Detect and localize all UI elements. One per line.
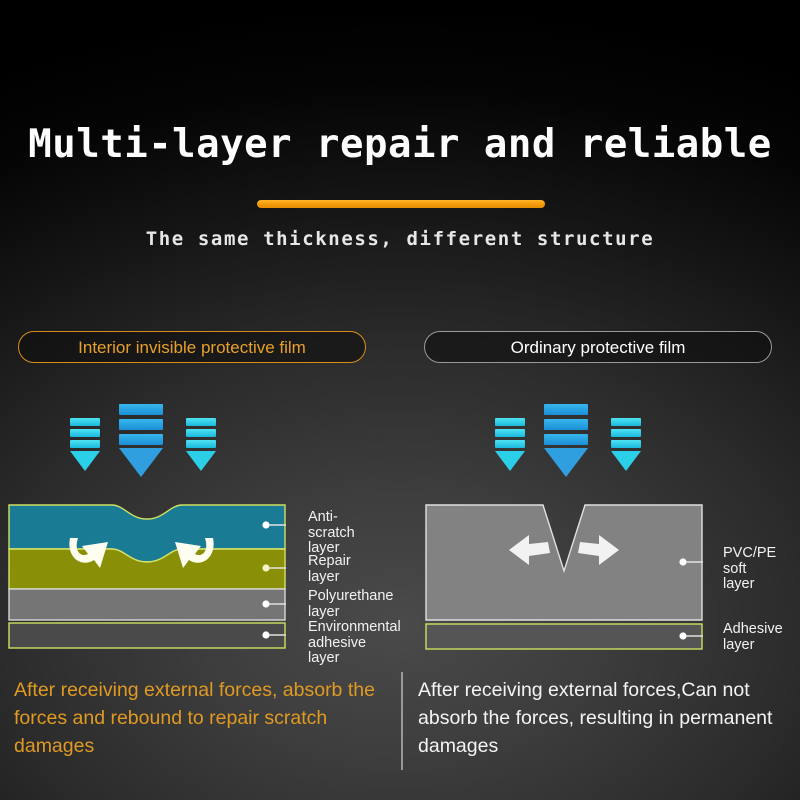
layer-label-anti-scratch: Anti-scratch layer (308, 510, 355, 557)
layer-label-adhesive: Adhesive layer (723, 622, 783, 653)
title-underline-rule (257, 200, 545, 208)
layer-marker-dot (679, 558, 686, 565)
layer-pvc-pe-soft (426, 505, 702, 620)
layer-marker-dot (262, 521, 269, 528)
layer-marker-dot (262, 631, 269, 638)
layer-environmental-adhesive (9, 623, 285, 648)
layer-stack-svg (425, 492, 703, 662)
panel-heading-interior-film: Interior invisible protective film (18, 331, 366, 363)
layer-stack-svg (8, 492, 286, 662)
panel-heading-ordinary-film: Ordinary protective film (424, 331, 772, 363)
layer-polyurethane (9, 589, 285, 620)
caption-interior-film: After receiving external forces, absorb … (14, 676, 402, 760)
layer-marker-dot (262, 564, 269, 571)
layer-adhesive (426, 624, 702, 649)
layer-label-repair: Repair layer (308, 554, 351, 585)
page-title: Multi-layer repair and reliable (0, 122, 800, 167)
layer-stack-diagram-interior-film: Anti-scratch layer Repair layer Polyuret… (8, 492, 286, 662)
layer-stack-diagram-ordinary-film: PVC/PE soft layer Adhesive layer (425, 492, 703, 662)
infographic-page: Multi-layer repair and reliable The same… (0, 0, 800, 800)
layer-label-environmental-adhesive: Environmental adhesive layer (308, 620, 401, 667)
layer-marker-dot (679, 632, 686, 639)
page-subtitle: The same thickness, different structure (0, 228, 800, 250)
layer-marker-dot (262, 600, 269, 607)
layer-label-polyurethane: Polyurethane layer (308, 589, 393, 620)
caption-ordinary-film: After receiving external forces,Can not … (418, 676, 790, 760)
layer-label-pvc-pe-soft: PVC/PE soft layer (723, 546, 776, 593)
